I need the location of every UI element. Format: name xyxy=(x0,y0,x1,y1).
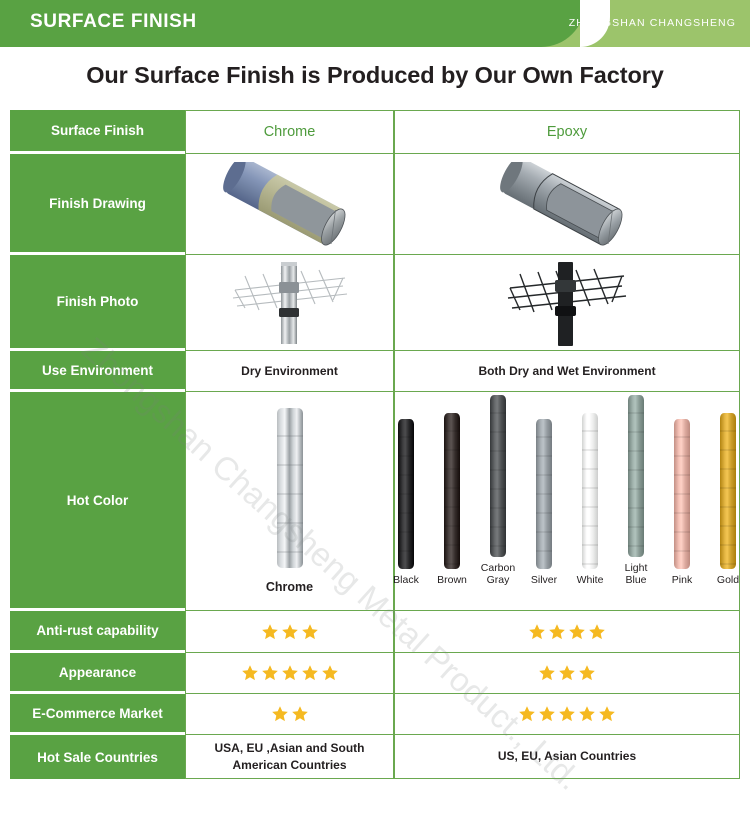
cell-ecommerce-chrome xyxy=(185,694,394,735)
cell-finish-photo-epoxy xyxy=(394,255,740,351)
row-label-hot-color: Hot Color xyxy=(10,392,185,611)
cell-finish-photo-chrome xyxy=(185,255,394,351)
color-tube-label: Black xyxy=(393,574,419,586)
cell-use-environment-epoxy: Both Dry and Wet Environment xyxy=(394,351,740,392)
color-tube-label: Pink xyxy=(672,574,692,586)
star-icon xyxy=(558,705,576,723)
cell-hot-sale-chrome: USA, EU ,Asian and South American Countr… xyxy=(185,735,394,779)
color-tube-label: Silver xyxy=(531,574,557,586)
row-label-finish-photo: Finish Photo xyxy=(10,255,185,351)
row-label-ecommerce: E-Commerce Market xyxy=(10,694,185,735)
table-row-anti-rust: Anti-rust capability xyxy=(10,611,740,653)
cell-hot-color-epoxy: BlackBrownCarbonGraySilverWhiteLightBlue… xyxy=(394,392,740,611)
table-row-appearance: Appearance xyxy=(10,653,740,694)
star-icon xyxy=(528,623,546,641)
table-header-row: Surface Finish Chrome Epoxy xyxy=(10,110,740,154)
star-icon xyxy=(271,705,289,723)
appearance-epoxy-stars xyxy=(538,664,596,682)
star-icon xyxy=(241,664,259,682)
color-swatch-item: LightBlue xyxy=(618,395,654,586)
cell-finish-drawing-chrome xyxy=(185,154,394,255)
color-swatch-item: Gold xyxy=(710,413,746,586)
epoxy-shelf-post-photo-icon xyxy=(395,255,739,350)
table-row-use-environment: Use Environment Dry Environment Both Dry… xyxy=(10,351,740,392)
star-icon xyxy=(588,623,606,641)
cell-anti-rust-epoxy xyxy=(394,611,740,653)
chrome-shelf-post-photo-icon xyxy=(186,255,393,350)
table-row-hot-color: Hot Color Chrome BlackBrownCarbonGraySil… xyxy=(10,392,740,611)
star-icon xyxy=(321,664,339,682)
header-brand-name: ZHONGSHAN CHANGSHENG xyxy=(569,17,736,29)
star-icon xyxy=(281,664,299,682)
star-icon xyxy=(301,664,319,682)
color-tube-light-blue xyxy=(628,395,644,557)
star-icon xyxy=(518,705,536,723)
use-environment-chrome-text: Dry Environment xyxy=(241,363,338,379)
star-icon xyxy=(578,705,596,723)
surface-finish-table: Surface Finish Chrome Epoxy Finish Drawi… xyxy=(10,110,740,779)
epoxy-color-swatch-strip: BlackBrownCarbonGraySilverWhiteLightBlue… xyxy=(388,416,746,586)
cell-anti-rust-chrome xyxy=(185,611,394,653)
epoxy-tube-cutaway-icon xyxy=(395,154,739,254)
color-swatch-item: Brown xyxy=(434,413,470,586)
star-icon xyxy=(568,623,586,641)
star-icon xyxy=(281,623,299,641)
color-tube-label: CarbonGray xyxy=(481,562,515,586)
star-icon xyxy=(578,664,596,682)
color-swatch-item: CarbonGray xyxy=(480,395,516,586)
header-title: SURFACE FINISH xyxy=(30,11,197,33)
header-cell-chrome: Chrome xyxy=(185,110,394,154)
color-tube-gold xyxy=(720,413,736,569)
color-tube-label: Brown xyxy=(437,574,467,586)
row-label-finish-drawing: Finish Drawing xyxy=(10,154,185,255)
page-header: SURFACE FINISH ZHONGSHAN CHANGSHENG xyxy=(0,0,750,47)
color-tube-white xyxy=(582,413,598,569)
color-swatch-item: Black xyxy=(388,419,424,586)
table-row-finish-photo: Finish Photo xyxy=(10,255,740,351)
cell-hot-color-chrome: Chrome xyxy=(185,392,394,611)
header-cell-epoxy: Epoxy xyxy=(394,110,740,154)
star-icon xyxy=(261,623,279,641)
cell-use-environment-chrome: Dry Environment xyxy=(185,351,394,392)
table-row-finish-drawing: Finish Drawing xyxy=(10,154,740,255)
star-icon xyxy=(261,664,279,682)
appearance-chrome-stars xyxy=(241,664,339,682)
color-tube-brown xyxy=(444,413,460,569)
cell-appearance-chrome xyxy=(185,653,394,694)
star-icon xyxy=(548,623,566,641)
color-swatch-item: White xyxy=(572,413,608,586)
chrome-color-pole xyxy=(277,408,303,568)
star-icon xyxy=(598,705,616,723)
row-label-appearance: Appearance xyxy=(10,653,185,694)
page-title: Our Surface Finish is Produced by Our Ow… xyxy=(0,62,750,89)
row-label-hot-sale-countries: Hot Sale Countries xyxy=(10,735,185,779)
header-label-chrome: Chrome xyxy=(264,124,316,140)
hot-sale-epoxy-text: US, EU, Asian Countries xyxy=(498,748,636,764)
star-icon xyxy=(558,664,576,682)
color-tube-label: LightBlue xyxy=(625,562,648,586)
color-tube-label: White xyxy=(577,574,604,586)
use-environment-epoxy-text: Both Dry and Wet Environment xyxy=(478,363,655,379)
color-swatch-item: Silver xyxy=(526,419,562,586)
ecommerce-epoxy-stars xyxy=(518,705,616,723)
table-row-ecommerce: E-Commerce Market xyxy=(10,694,740,735)
color-tube-black xyxy=(398,419,414,569)
color-tube-silver xyxy=(536,419,552,569)
cell-finish-drawing-epoxy xyxy=(394,154,740,255)
anti-rust-epoxy-stars xyxy=(528,623,606,641)
row-label-anti-rust: Anti-rust capability xyxy=(10,611,185,653)
color-tube-carbon-gray xyxy=(490,395,506,557)
header-cell-surface-finish: Surface Finish xyxy=(10,110,185,154)
ecommerce-chrome-stars xyxy=(271,705,309,723)
cell-appearance-epoxy xyxy=(394,653,740,694)
color-swatch-item: Pink xyxy=(664,419,700,586)
color-tube-pink xyxy=(674,419,690,569)
star-icon xyxy=(301,623,319,641)
star-icon xyxy=(538,664,556,682)
table-row-hot-sale-countries: Hot Sale Countries USA, EU ,Asian and So… xyxy=(10,735,740,779)
chrome-color-caption: Chrome xyxy=(266,580,313,594)
star-icon xyxy=(291,705,309,723)
color-tube-label: Gold xyxy=(717,574,739,586)
anti-rust-chrome-stars xyxy=(261,623,319,641)
star-icon xyxy=(538,705,556,723)
chrome-tube-cutaway-icon xyxy=(186,154,393,254)
hot-sale-chrome-text: USA, EU ,Asian and South American Countr… xyxy=(186,740,393,772)
cell-hot-sale-epoxy: US, EU, Asian Countries xyxy=(394,735,740,779)
header-label-epoxy: Epoxy xyxy=(547,124,587,140)
cell-ecommerce-epoxy xyxy=(394,694,740,735)
row-label-use-environment: Use Environment xyxy=(10,351,185,392)
